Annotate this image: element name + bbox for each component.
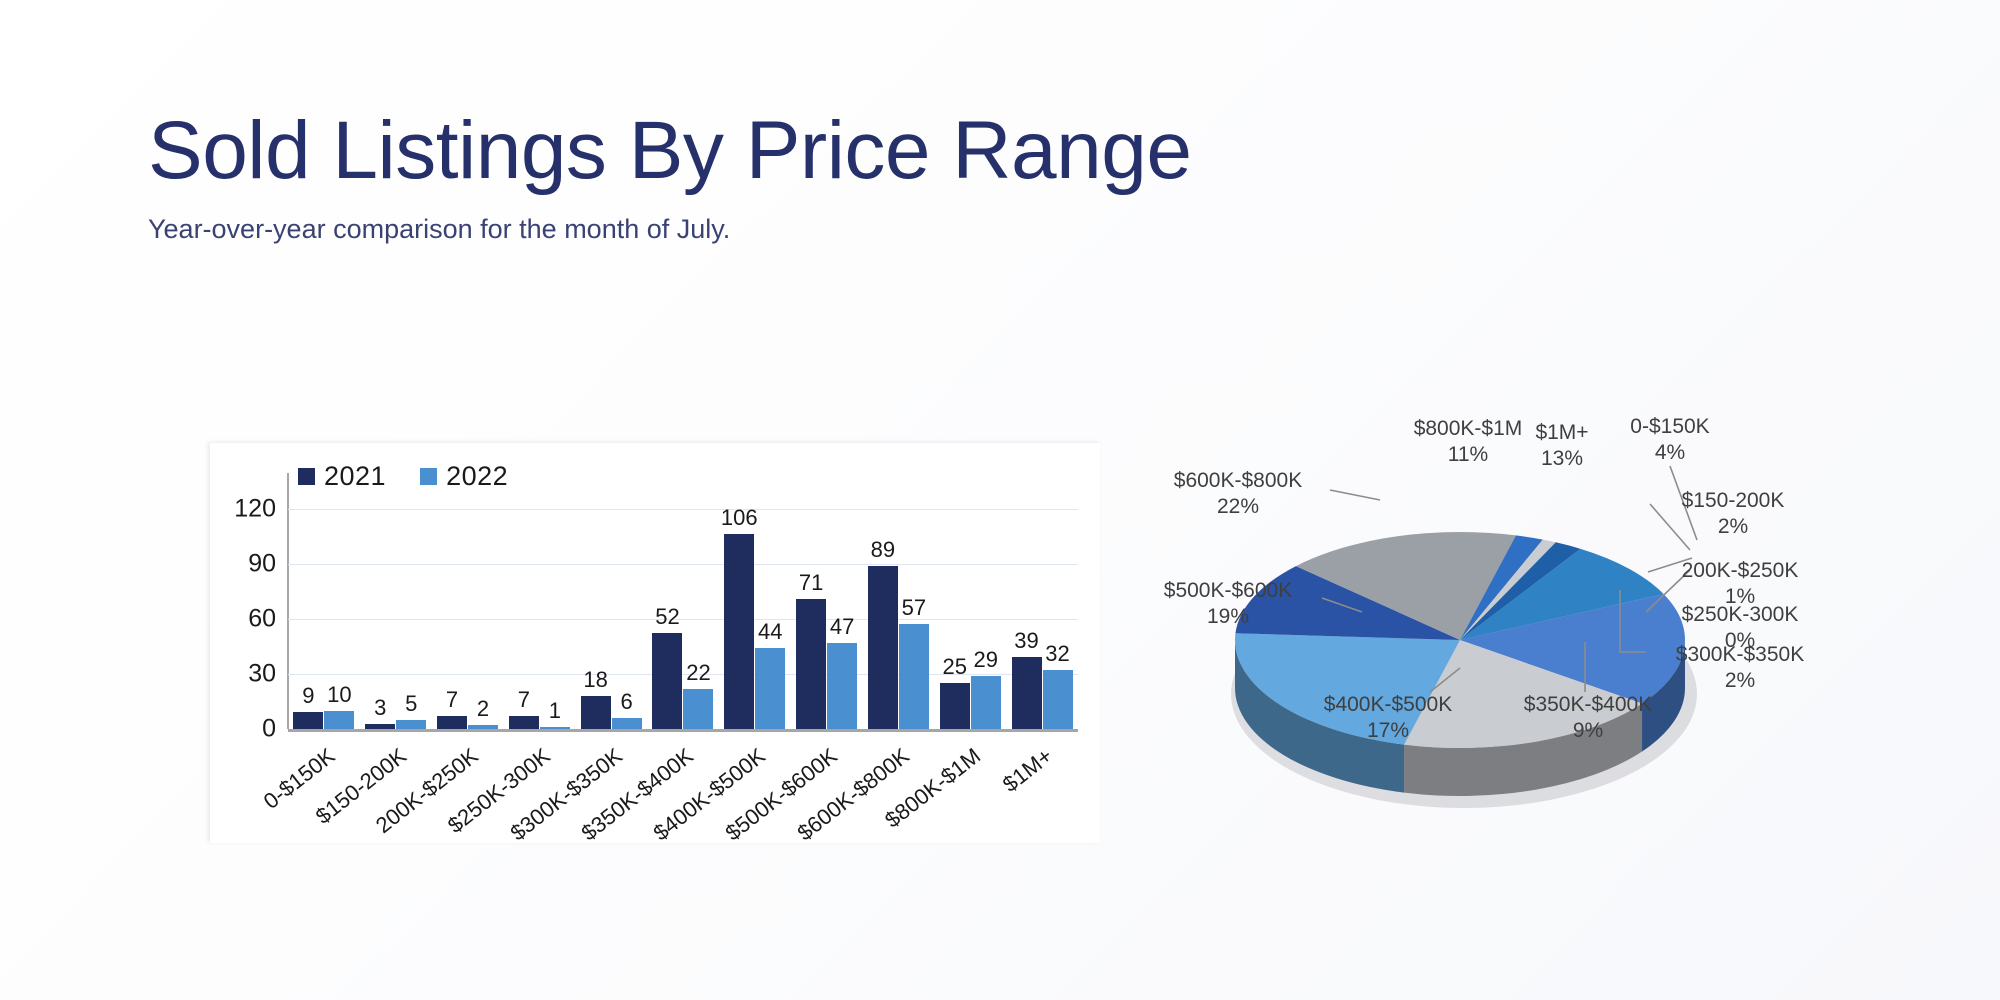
pie-slice-label: $350K-$400K9%	[1498, 692, 1678, 745]
bar-rect	[652, 633, 682, 729]
bar-2021[interactable]: 71	[796, 481, 826, 729]
pie-label-percent: 22%	[1148, 494, 1328, 520]
bar-2021[interactable]: 89	[868, 481, 898, 729]
bar-rect	[509, 716, 539, 729]
bar-rect	[755, 648, 785, 729]
bar-chart-legend: 2021 2022	[298, 461, 508, 492]
legend-label-2022: 2022	[446, 461, 508, 492]
bar-groups: 9103572711865222106447147895725293932	[288, 481, 1078, 729]
bar-value-label: 47	[830, 616, 854, 638]
bar-value-label: 7	[518, 689, 530, 711]
bar-rect	[683, 689, 713, 729]
bar-value-label: 3	[374, 697, 386, 719]
pie-label-percent: 2%	[1648, 514, 1818, 540]
pie-slice-label: 0-$150K4%	[1600, 414, 1740, 467]
bar-2021[interactable]: 39	[1012, 481, 1042, 729]
bar-value-label: 9	[302, 685, 314, 707]
y-tick-label: 120	[206, 494, 276, 523]
bar-rect	[971, 676, 1001, 729]
pie-label-percent: 9%	[1498, 718, 1678, 744]
bar-rect	[1043, 670, 1073, 729]
bar-group: 10644	[719, 481, 791, 729]
bar-2021[interactable]: 25	[940, 481, 970, 729]
bar-2021[interactable]: 7	[437, 481, 467, 729]
bar-group: 71	[503, 481, 575, 729]
bar-value-label: 18	[583, 669, 607, 691]
pie-label-percent: 17%	[1298, 718, 1478, 744]
bar-rect	[324, 711, 354, 729]
bar-group: 72	[432, 481, 504, 729]
bar-2021[interactable]: 106	[724, 481, 754, 729]
bar-rect	[940, 683, 970, 729]
bar-2022[interactable]: 57	[899, 481, 929, 729]
bar-2022[interactable]: 29	[971, 481, 1001, 729]
page-title: Sold Listings By Price Range	[148, 110, 1191, 192]
bar-rect	[827, 643, 857, 729]
pie-label-name: $500K-$600K	[1164, 579, 1292, 602]
bar-2022[interactable]: 44	[755, 481, 785, 729]
bar-2022[interactable]: 1	[540, 481, 570, 729]
bar-rect	[796, 599, 826, 729]
legend-swatch-2021	[298, 468, 315, 485]
bar-2022[interactable]: 6	[612, 481, 642, 729]
bar-rect	[437, 716, 467, 729]
bar-group: 2529	[934, 481, 1006, 729]
bar-rect	[724, 534, 754, 729]
bar-group: 5222	[647, 481, 719, 729]
header: Sold Listings By Price Range Year-over-y…	[148, 110, 1191, 245]
x-axis-line	[288, 729, 1078, 732]
page-subtitle: Year-over-year comparison for the month …	[148, 214, 1191, 245]
bar-2022[interactable]: 32	[1043, 481, 1073, 729]
pie-label-name: $350K-$400K	[1524, 693, 1652, 716]
bar-group: 7147	[791, 481, 863, 729]
bar-2022[interactable]: 22	[683, 481, 713, 729]
bar-rect	[293, 712, 323, 729]
pie-slice-label: $300K-$350K2%	[1650, 642, 1830, 695]
x-label-slot: $1M+	[1006, 735, 1078, 845]
bar-rect	[396, 720, 426, 729]
y-tick-label: 30	[206, 659, 276, 688]
bar-2022[interactable]: 47	[827, 481, 857, 729]
bar-2022[interactable]: 10	[324, 481, 354, 729]
bar-rect	[612, 718, 642, 729]
bar-value-label: 89	[871, 539, 895, 561]
bar-value-label: 57	[902, 597, 926, 619]
pie-label-name: $150-200K	[1682, 489, 1785, 512]
legend-item-2021[interactable]: 2021	[298, 461, 386, 492]
pie-slice-label: $600K-$800K22%	[1148, 468, 1328, 521]
bar-rect	[868, 566, 898, 729]
pie-label-percent: 4%	[1600, 440, 1740, 466]
pie-label-percent: 19%	[1138, 604, 1318, 630]
y-tick-label: 90	[206, 549, 276, 578]
pie-label-name: 0-$150K	[1630, 415, 1709, 438]
legend-label-2021: 2021	[324, 461, 386, 492]
bar-rect	[899, 624, 929, 729]
x-axis-labels: 0-$150K$150-200K200K-$250K$250K-300K$300…	[288, 735, 1078, 845]
bar-2021[interactable]: 3	[365, 481, 395, 729]
x-label-slot: $800K-$1M	[934, 735, 1006, 845]
bar-2021[interactable]: 9	[293, 481, 323, 729]
pie-label-name: $400K-$500K	[1324, 693, 1452, 716]
bar-rect	[1012, 657, 1042, 729]
slide-canvas: Sold Listings By Price Range Year-over-y…	[0, 0, 2000, 1000]
bar-chart[interactable]: 2021 2022 1209060300 9103572711865222106…	[210, 443, 1100, 843]
bar-2022[interactable]: 2	[468, 481, 498, 729]
pie-slice-label: $150-200K2%	[1648, 488, 1818, 541]
pie-slice-label: $500K-$600K19%	[1138, 578, 1318, 631]
bar-group: 910	[288, 481, 360, 729]
y-axis: 1209060300	[200, 443, 276, 843]
bar-value-label: 25	[942, 656, 966, 678]
legend-item-2022[interactable]: 2022	[420, 461, 508, 492]
bar-value-label: 29	[973, 649, 997, 671]
bar-value-label: 44	[758, 621, 782, 643]
bar-rect	[581, 696, 611, 729]
bar-group: 3932	[1006, 481, 1078, 729]
pie-label-name: 200K-$250K	[1682, 559, 1799, 582]
bar-2021[interactable]: 7	[509, 481, 539, 729]
bar-2021[interactable]: 18	[581, 481, 611, 729]
bar-value-label: 5	[405, 693, 417, 715]
pie-label-name: $250K-300K	[1682, 603, 1799, 626]
bar-value-label: 6	[621, 691, 633, 713]
pie-label-percent: 2%	[1650, 668, 1830, 694]
bar-group: 35	[360, 481, 432, 729]
x-tick-label: $1M+	[998, 743, 1058, 798]
y-tick-label: 60	[206, 604, 276, 633]
pie-slice-label: $400K-$500K17%	[1298, 692, 1478, 745]
bar-value-label: 2	[477, 698, 489, 720]
y-tick-label: 0	[206, 715, 276, 744]
bar-value-label: 1	[549, 700, 561, 722]
bar-group: 8957	[863, 481, 935, 729]
bar-value-label: 10	[327, 684, 351, 706]
bar-value-label: 106	[721, 507, 758, 529]
pie-label-name: $600K-$800K	[1174, 469, 1302, 492]
pie-chart[interactable]: $800K-$1M11%$1M+13%0-$150K4%$150-200K2%2…	[1130, 430, 1980, 910]
bar-value-label: 7	[446, 689, 458, 711]
pie-label-name: $300K-$350K	[1676, 643, 1804, 666]
bar-value-label: 39	[1014, 630, 1038, 652]
bar-value-label: 52	[655, 606, 679, 628]
pie-label-name: $1M+	[1535, 421, 1588, 444]
legend-swatch-2022	[420, 468, 437, 485]
bar-2022[interactable]: 5	[396, 481, 426, 729]
bar-value-label: 22	[686, 662, 710, 684]
bar-value-label: 32	[1045, 643, 1069, 665]
bar-group: 186	[575, 481, 647, 729]
bar-value-label: 71	[799, 572, 823, 594]
bar-2021[interactable]: 52	[652, 481, 682, 729]
pie-leader-line	[1330, 490, 1380, 500]
